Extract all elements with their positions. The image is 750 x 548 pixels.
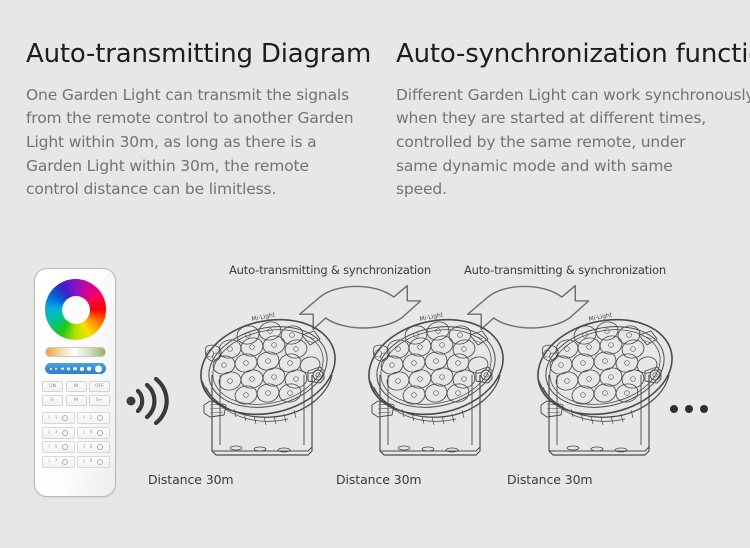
- remote-zone-4[interactable]: I 4: [77, 427, 110, 439]
- remote-zone-5[interactable]: I 5: [42, 441, 75, 453]
- color-wheel[interactable]: [45, 279, 106, 340]
- remote-button-w[interactable]: W: [66, 381, 87, 392]
- body-line: Different Garden Light can work synchron…: [396, 84, 741, 108]
- text-column-right: Auto-synchronization function Different …: [396, 40, 741, 202]
- color-temperature-slider[interactable]: [45, 347, 106, 357]
- body-line: controlled by the same remote, under: [396, 131, 741, 155]
- text-column-left: Auto-transmitting Diagram One Garden Lig…: [26, 40, 366, 202]
- zone-on-icon: I: [83, 459, 84, 465]
- zone-off-icon: [97, 444, 103, 450]
- zone-number: 2: [90, 416, 93, 421]
- brightness-slider[interactable]: [45, 363, 106, 374]
- zone-off-icon: [62, 444, 68, 450]
- remote-control[interactable]: ON W OFF S- M S+ I 1 I 2 I: [34, 268, 116, 497]
- zone-on-icon: I: [48, 415, 49, 421]
- ellipsis-dot: [700, 405, 708, 413]
- body-line: speed.: [396, 178, 741, 202]
- body-line: when they are started at different times…: [396, 107, 741, 131]
- zone-number: 1: [55, 416, 58, 421]
- zone-on-icon: I: [83, 430, 84, 436]
- body-line: Garden Light within 30m, the remote: [26, 155, 366, 179]
- remote-zone-2[interactable]: I 2: [77, 412, 110, 424]
- rf-signal-icon: [126, 377, 172, 425]
- distance-label-1: Distance 30m: [148, 472, 234, 487]
- remote-zone-button-grid: I 1 I 2 I 3 I 4: [42, 412, 110, 468]
- zone-number: 3: [55, 430, 58, 435]
- color-wheel-center-button[interactable]: [70, 304, 84, 318]
- zone-off-icon: [62, 459, 68, 465]
- diagram-scene: ON W OFF S- M S+ I 1 I 2 I: [0, 255, 750, 510]
- zone-off-icon: [97, 415, 103, 421]
- garden-light-3: Mi·Light: [527, 305, 707, 470]
- arrow-caption-1: Auto-transmitting & synchronization: [229, 263, 431, 277]
- remote-zone-3[interactable]: I 3: [42, 427, 75, 439]
- zone-on-icon: I: [48, 444, 49, 450]
- remote-mode-button-grid: ON W OFF S- M S+: [42, 381, 110, 406]
- remote-button-speed-down[interactable]: S-: [42, 395, 63, 406]
- remote-button-mode[interactable]: M: [66, 395, 87, 406]
- zone-number: 4: [90, 430, 93, 435]
- remote-zone-8[interactable]: I 8: [77, 456, 110, 468]
- body-line: control distance can be limitless.: [26, 178, 366, 202]
- zone-off-icon: [97, 459, 103, 465]
- remote-button-off[interactable]: OFF: [89, 381, 110, 392]
- zone-number: 8: [90, 459, 93, 464]
- zone-number: 7: [55, 459, 58, 464]
- remote-zone-7[interactable]: I 7: [42, 456, 75, 468]
- body-line: Light within 30m, as long as there is a: [26, 131, 366, 155]
- remote-zone-1[interactable]: I 1: [42, 412, 75, 424]
- garden-light-1: Mi·Light: [190, 305, 370, 470]
- zone-on-icon: I: [83, 415, 84, 421]
- garden-light-2: Mi·Light: [358, 305, 538, 470]
- continuation-ellipsis: [670, 405, 708, 413]
- page-title-auto-transmitting: Auto-transmitting Diagram: [26, 40, 366, 70]
- ellipsis-dot: [685, 405, 693, 413]
- distance-label-3: Distance 30m: [507, 472, 593, 487]
- zone-on-icon: I: [83, 444, 84, 450]
- body-line: same dynamic mode and with same: [396, 155, 741, 179]
- body-text-auto-transmitting: One Garden Light can transmit the signal…: [26, 84, 366, 202]
- ellipsis-dot: [670, 405, 678, 413]
- remote-button-speed-up[interactable]: S+: [89, 395, 110, 406]
- zone-number: 6: [90, 445, 93, 450]
- remote-button-on[interactable]: ON: [42, 381, 63, 392]
- body-text-auto-synchronization: Different Garden Light can work synchron…: [396, 84, 741, 202]
- zone-number: 5: [55, 445, 58, 450]
- page-title-auto-synchronization: Auto-synchronization function: [396, 40, 741, 70]
- remote-zone-6[interactable]: I 6: [77, 441, 110, 453]
- distance-label-2: Distance 30m: [336, 472, 422, 487]
- zone-off-icon: [97, 430, 103, 436]
- zone-on-icon: I: [48, 459, 49, 465]
- zone-off-icon: [62, 430, 68, 436]
- arrow-caption-2: Auto-transmitting & synchronization: [464, 263, 666, 277]
- zone-on-icon: I: [48, 430, 49, 436]
- page-root: Auto-transmitting Diagram One Garden Lig…: [0, 0, 750, 548]
- body-line: from the remote control to another Garde…: [26, 107, 366, 131]
- body-line: One Garden Light can transmit the signal…: [26, 84, 366, 108]
- zone-off-icon: [62, 415, 68, 421]
